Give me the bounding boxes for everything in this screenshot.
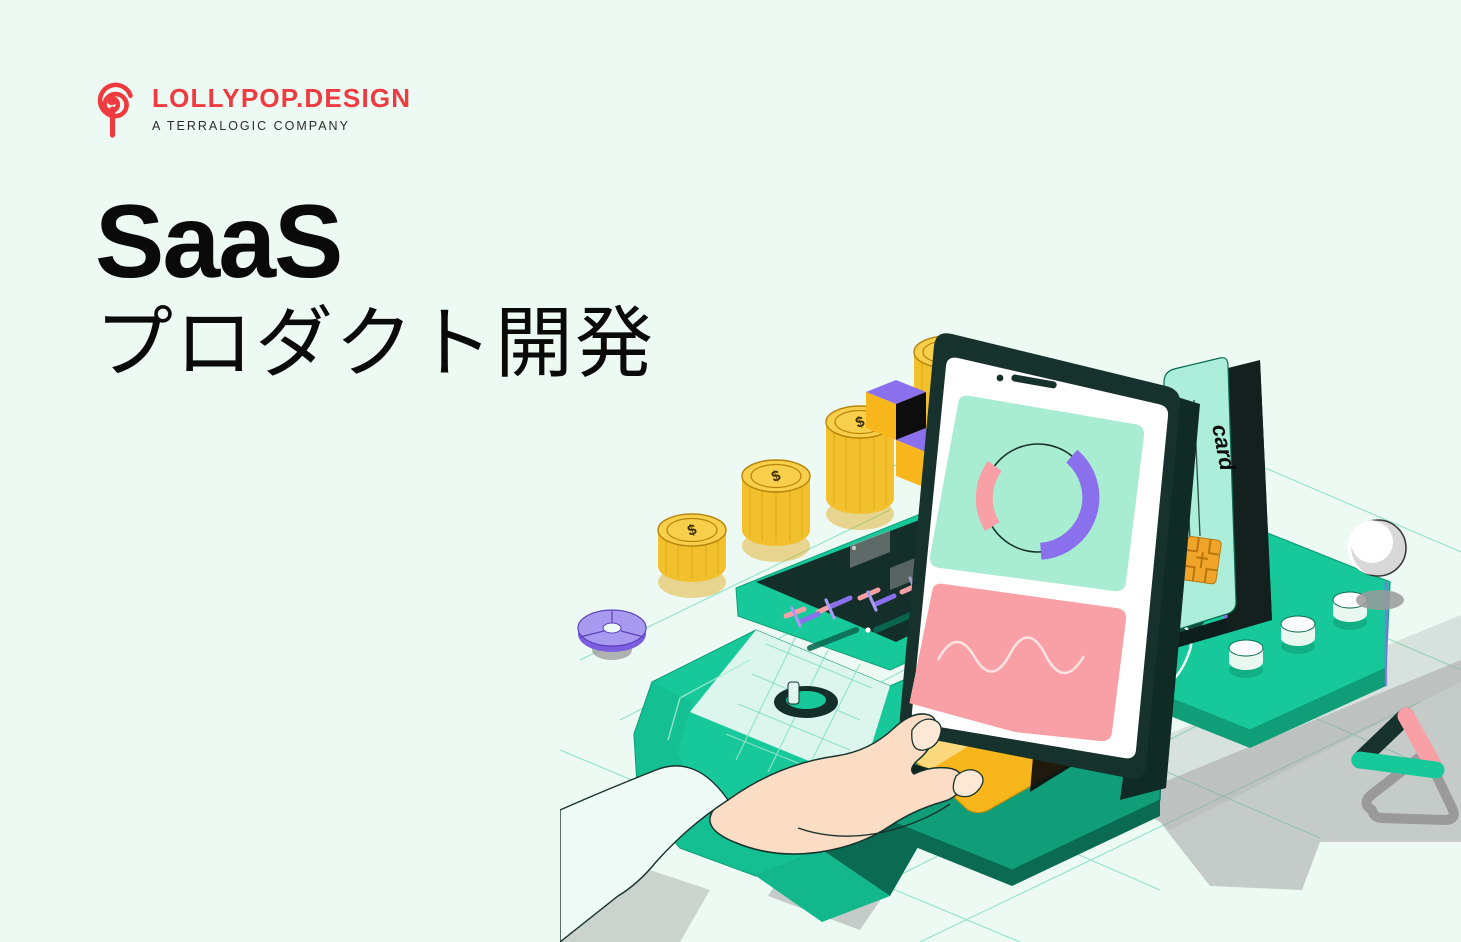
headline-line-1: SaaS xyxy=(95,190,655,294)
phone-device[interactable] xyxy=(900,333,1200,800)
coin-stack-2: $ xyxy=(742,460,810,562)
lollypop-swirl-icon xyxy=(92,78,138,140)
purple-disc xyxy=(578,610,646,660)
logo-wordmark: LOLLYPOP.DESIGN xyxy=(152,85,411,111)
cube-1 xyxy=(866,380,926,440)
coin-stack-1: $ xyxy=(658,514,726,598)
brand-logo[interactable]: LOLLYPOP.DESIGN A TERRALOGIC COMPANY xyxy=(92,78,411,140)
logo-text-group: LOLLYPOP.DESIGN A TERRALOGIC COMPANY xyxy=(152,78,411,133)
emv-chip-icon xyxy=(1182,536,1222,584)
logo-tagline: A TERRALOGIC COMPANY xyxy=(152,120,411,133)
isometric-saas-fintech-scene: $ $ xyxy=(560,330,1461,942)
page-root: LOLLYPOP.DESIGN A TERRALOGIC COMPANY Saa… xyxy=(0,0,1461,942)
